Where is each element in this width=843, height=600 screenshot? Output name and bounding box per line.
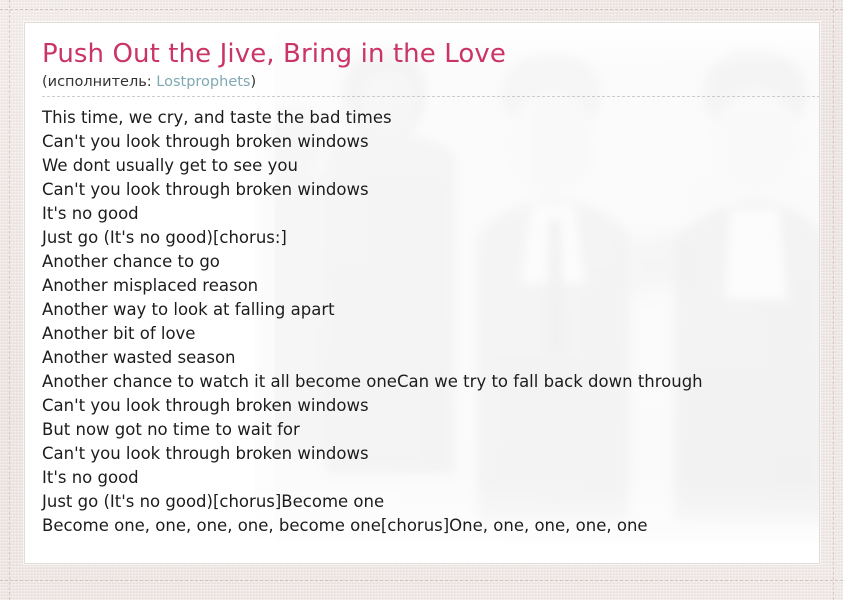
lyrics-card: Push Out the Jive, Bring in the Love (ис… bbox=[24, 22, 820, 564]
page-title: Push Out the Jive, Bring in the Love bbox=[42, 39, 819, 69]
page-edge-rule-bottom bbox=[0, 580, 843, 581]
lyrics-line: This time, we cry, and taste the bad tim… bbox=[42, 106, 819, 130]
lyrics-body: This time, we cry, and taste the bad tim… bbox=[42, 106, 819, 538]
lyrics-line: Another misplaced reason bbox=[42, 274, 819, 298]
lyrics-line: But now got no time to wait for bbox=[42, 418, 819, 442]
lyrics-line: Just go (It's no good)[chorus]Become one bbox=[42, 490, 819, 514]
lyrics-line: Another chance to go bbox=[42, 250, 819, 274]
page-edge-rule-top bbox=[0, 9, 843, 10]
lyrics-line: Become one, one, one, one, become one[ch… bbox=[42, 514, 819, 538]
artist-suffix-label: ) bbox=[250, 74, 256, 90]
page-edge-rule-left bbox=[9, 0, 10, 600]
lyrics-line: Another chance to watch it all become on… bbox=[42, 370, 819, 394]
lyrics-line: Another wasted season bbox=[42, 346, 819, 370]
lyrics-line: It's no good bbox=[42, 202, 819, 226]
lyrics-line: Just go (It's no good)[chorus:] bbox=[42, 226, 819, 250]
artist-prefix-label: (исполнитель: bbox=[42, 74, 156, 90]
lyrics-line: We dont usually get to see you bbox=[42, 154, 819, 178]
card-content: Push Out the Jive, Bring in the Love (ис… bbox=[25, 23, 819, 538]
lyrics-line: Can't you look through broken windows bbox=[42, 130, 819, 154]
lyrics-line: It's no good bbox=[42, 466, 819, 490]
artist-link[interactable]: Lostprophets bbox=[156, 74, 250, 90]
artist-line: (исполнитель: Lostprophets) bbox=[42, 73, 819, 91]
lyrics-line: Can't you look through broken windows bbox=[42, 178, 819, 202]
lyrics-line: Another bit of love bbox=[42, 322, 819, 346]
header-separator bbox=[42, 96, 820, 97]
lyrics-line: Can't you look through broken windows bbox=[42, 394, 819, 418]
page-edge-rule-right bbox=[833, 0, 834, 600]
lyrics-line: Another way to look at falling apart bbox=[42, 298, 819, 322]
lyrics-line: Can't you look through broken windows bbox=[42, 442, 819, 466]
